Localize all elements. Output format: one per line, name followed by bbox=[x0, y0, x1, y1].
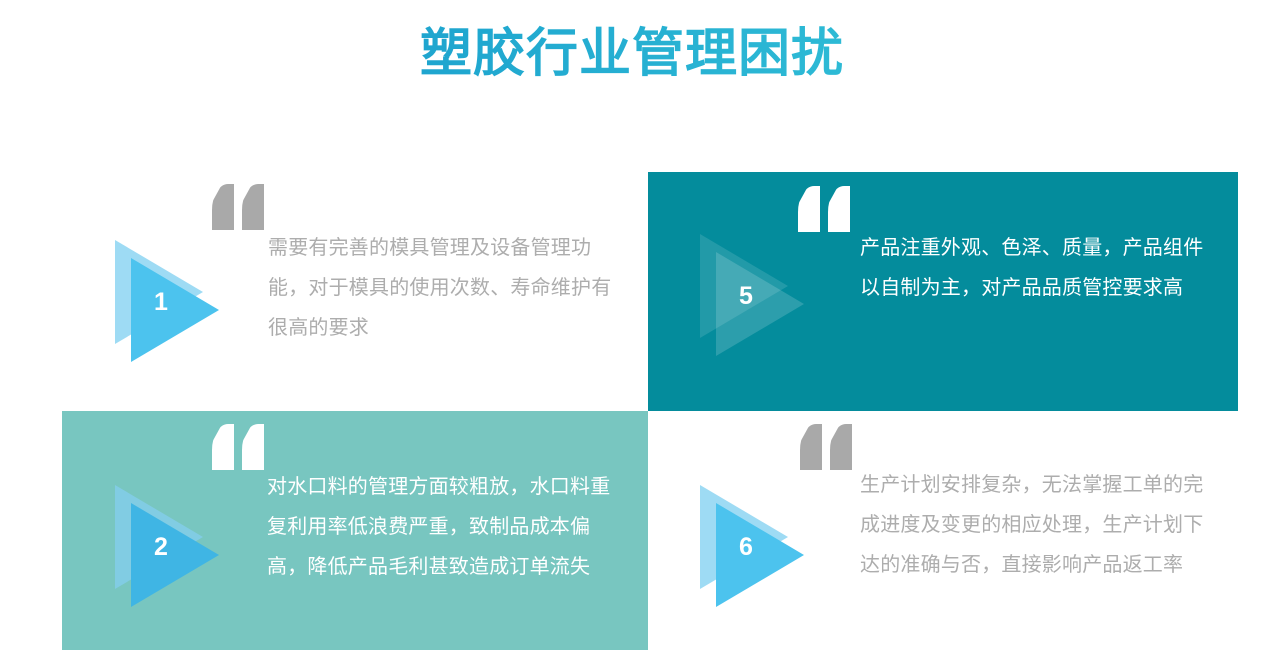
card-2-number: 2 bbox=[144, 535, 178, 560]
card-1: 1 需要有完善的模具管理及设备管理功能，对于模具的使用次数、寿命维护有很高的要求 bbox=[62, 172, 648, 412]
card-1-text: 需要有完善的模具管理及设备管理功能，对于模具的使用次数、寿命维护有很高的要求 bbox=[268, 228, 624, 348]
quote-open-icon bbox=[212, 184, 270, 230]
quote-open-icon bbox=[212, 424, 270, 470]
quote-open-icon bbox=[798, 186, 856, 232]
card-2-number-badge: 2 bbox=[115, 485, 227, 597]
card-6-text: 生产计划安排复杂，无法掌握工单的完成进度及变更的相应处理，生产计划下达的准确与否… bbox=[860, 465, 1220, 585]
page-title: 塑胶行业管理困扰 bbox=[0, 20, 1264, 88]
card-1-number: 1 bbox=[144, 290, 178, 315]
card-2: 2 对水口料的管理方面较粗放，水口料重复利用率低浪费严重，致制品成本偏高，降低产… bbox=[62, 411, 648, 650]
card-2-text: 对水口料的管理方面较粗放，水口料重复利用率低浪费严重，致制品成本偏高，降低产品毛… bbox=[267, 467, 627, 587]
card-1-number-badge: 1 bbox=[115, 240, 227, 352]
card-5-text: 产品注重外观、色泽、质量，产品组件以自制为主，对产品品质管控要求高 bbox=[860, 228, 1212, 308]
card-5: 5 产品注重外观、色泽、质量，产品组件以自制为主，对产品品质管控要求高 bbox=[648, 172, 1238, 412]
card-5-number: 5 bbox=[729, 284, 763, 309]
card-6: 6 生产计划安排复杂，无法掌握工单的完成进度及变更的相应处理，生产计划下达的准确… bbox=[648, 411, 1238, 650]
card-6-number: 6 bbox=[729, 535, 763, 560]
card-6-number-badge: 6 bbox=[700, 485, 812, 597]
quote-open-icon bbox=[800, 424, 858, 470]
card-5-number-badge: 5 bbox=[700, 234, 812, 346]
